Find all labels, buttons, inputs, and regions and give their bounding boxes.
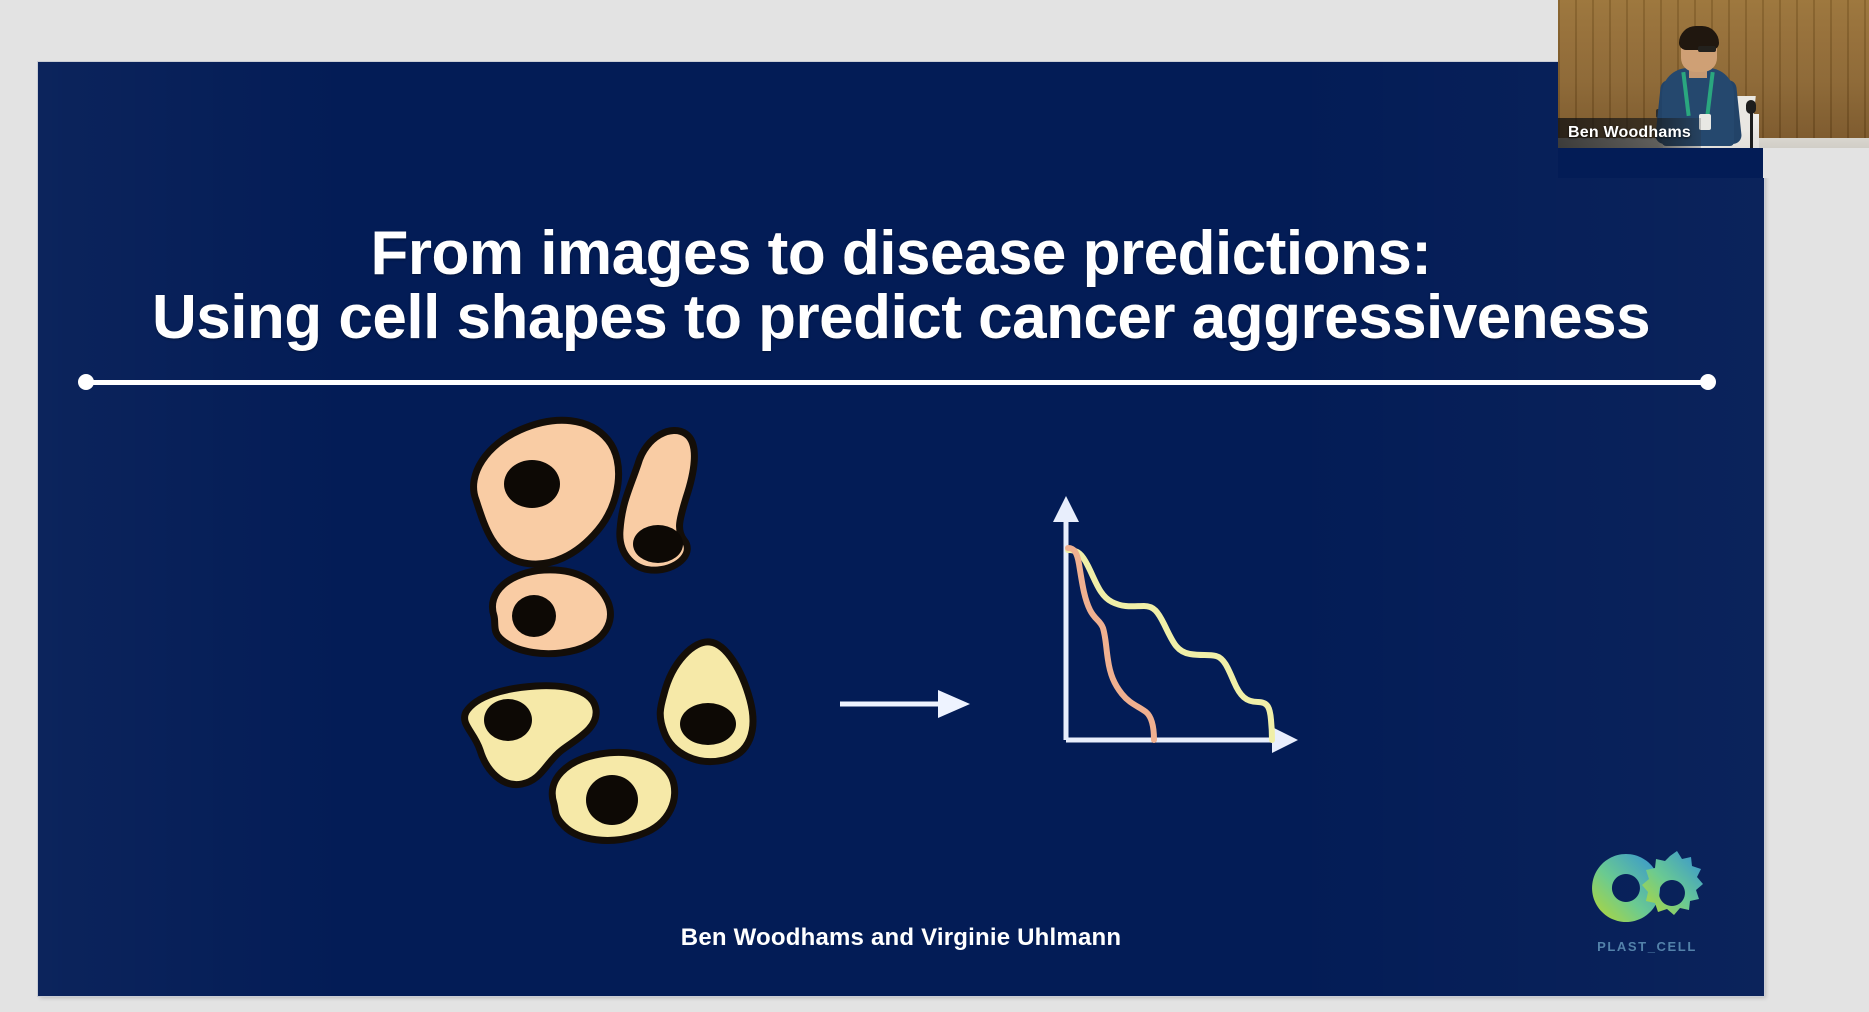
webcam-bottom-filler — [1558, 148, 1869, 178]
cell-illustration — [458, 412, 878, 882]
plastcell-logo: PLAST_CELL — [1582, 844, 1712, 954]
webcam-speaker-glasses — [1698, 46, 1716, 52]
non-aggressive-cell-group — [465, 642, 753, 841]
slide-canvas: From images to disease predictions: Usin… — [38, 62, 1764, 996]
slide-title: From images to disease predictions: Usin… — [38, 222, 1764, 350]
chart-y-axis-arrowhead — [1053, 496, 1079, 522]
author-line: Ben Woodhams and Virginie Uhlmann — [38, 924, 1764, 952]
speaker-webcam-overlay[interactable]: Ben Woodhams — [1558, 0, 1869, 178]
divider-rule — [78, 374, 1716, 390]
title-line-1: From images to disease predictions: — [38, 222, 1764, 286]
webcam-microphone-head — [1746, 100, 1756, 114]
plastcell-logo-text: PLAST_CELL — [1582, 939, 1712, 954]
aggressive-cell-group — [474, 420, 695, 653]
chart-series-aggressive — [1068, 548, 1154, 740]
divider-bar — [86, 380, 1708, 385]
presentation-viewer: From images to disease predictions: Usin… — [0, 0, 1869, 1012]
slide-illustration — [38, 392, 1764, 892]
divider-cap-right — [1700, 374, 1716, 390]
webcam-microphone-stand — [1750, 110, 1753, 152]
chart-series-non-aggressive — [1068, 550, 1272, 740]
plastcell-logo-mark — [1582, 844, 1712, 932]
webcam-bottom-slide-edge — [1558, 148, 1763, 178]
chart-x-axis-arrowhead — [1272, 727, 1298, 753]
transform-arrow-icon — [838, 682, 978, 726]
webcam-speaker-name: Ben Woodhams — [1558, 118, 1701, 148]
survival-curve-chart — [1048, 492, 1308, 752]
title-line-2: Using cell shapes to predict cancer aggr… — [38, 286, 1764, 350]
